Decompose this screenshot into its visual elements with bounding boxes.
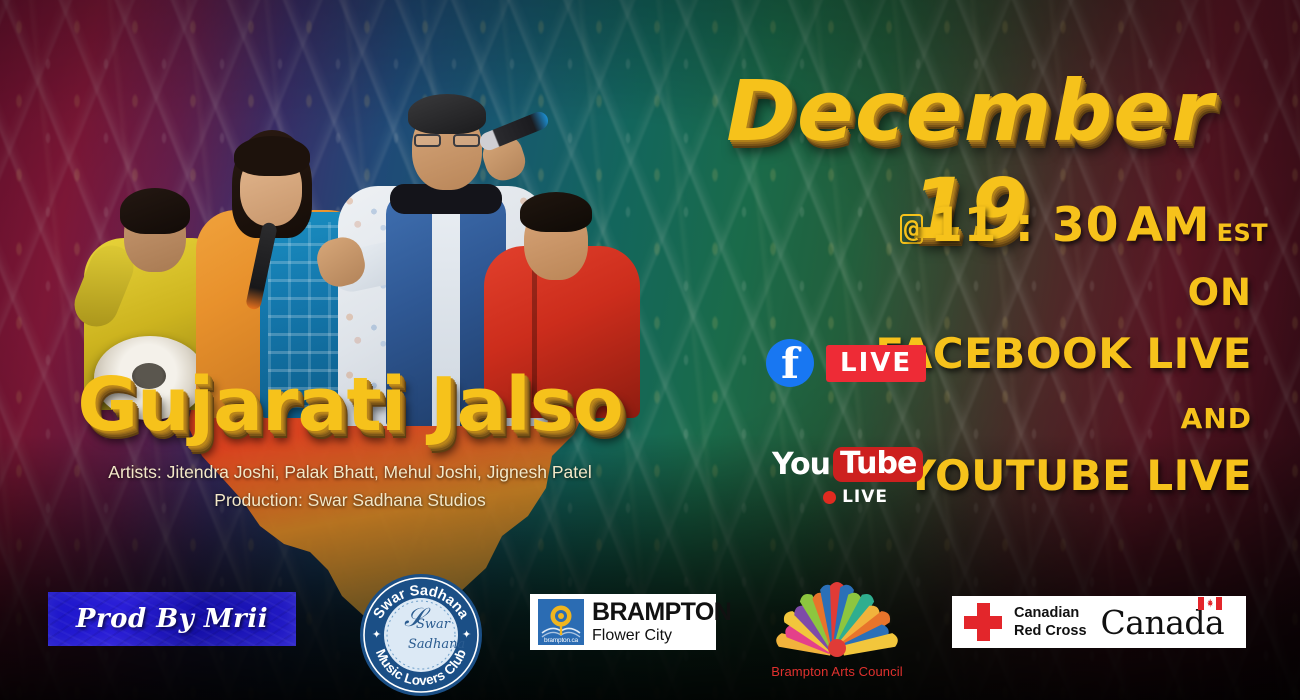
title-block: Gujarati Jalso Artists: Jitendra Joshi, …	[60, 368, 640, 514]
sponsor-canadian-red-cross[interactable]: Canadian Red Cross Canada	[952, 596, 1246, 648]
swar-sadhana-monogram-line2: Sadhana	[408, 637, 465, 652]
red-cross-icon	[964, 603, 1002, 641]
event-timezone: EST	[1217, 219, 1269, 247]
sponsor-prod-by-mrii[interactable]: Prod By Mrii	[48, 592, 296, 646]
brampton-flower-icon: brampton.ca	[538, 599, 584, 645]
brampton-tagline: Flower City	[592, 628, 731, 644]
production-line: Production: Swar Sadhana Studios	[60, 486, 640, 514]
lead-singer-hair	[408, 94, 486, 134]
sponsor-swar-sadhana-music-lovers-club[interactable]: Swar Sadhana Music Lovers Club ✦ ✦ 𝒮 Swa…	[358, 572, 484, 698]
event-poster: Gujarati Jalso Artists: Jitendra Joshi, …	[0, 0, 1300, 700]
youtube-tube-box: Tube	[833, 447, 923, 482]
canada-wordmark: Canada	[1101, 606, 1225, 639]
arts-council-name: Brampton Arts Council	[758, 664, 916, 679]
broadcast-and-label: AND	[832, 405, 1252, 433]
red-cross-line1: Canadian	[1014, 604, 1087, 622]
canada-flag-icon	[1198, 597, 1222, 610]
youtube-live-row: LIVE	[772, 489, 890, 506]
event-title: Gujarati Jalso	[60, 368, 640, 442]
swar-sadhana-monogram-line1: Swar	[416, 617, 451, 632]
sponsor-brampton-flower-city[interactable]: brampton.ca BRAMPTON Flower City	[530, 594, 716, 650]
brampton-name: BRAMPTON	[592, 600, 731, 625]
at-symbol-icon: @	[900, 214, 923, 244]
facebook-f-glyph: f	[766, 343, 814, 385]
red-cross-wordmark: Canadian Red Cross	[1014, 604, 1087, 640]
broadcast-on-label: ON	[832, 274, 1252, 311]
credits-block: Artists: Jitendra Joshi, Palak Bhatt, Me…	[60, 458, 640, 514]
performers-photo	[70, 58, 590, 408]
event-time-meridiem: AM	[1126, 198, 1209, 253]
facebook-live-badge[interactable]: f LIVE	[766, 339, 926, 387]
event-time: @ 11 : 30 AM EST	[900, 198, 1280, 253]
artists-line: Artists: Jitendra Joshi, Palak Bhatt, Me…	[60, 458, 640, 486]
event-time-clock: 11 : 30	[930, 198, 1119, 253]
brampton-wordmark: BRAMPTON Flower City	[592, 600, 731, 644]
youtube-live-badge[interactable]: You Tube LIVE	[772, 447, 890, 506]
youtube-tube-text: Tube	[840, 446, 916, 481]
youtube-you-text: You	[772, 450, 830, 480]
youtube-live-label: LIVE	[842, 489, 888, 506]
female-singer-fringe	[234, 136, 310, 176]
brampton-url: brampton.ca	[540, 637, 582, 644]
sponsor-brampton-arts-council[interactable]: Brampton Arts Council	[758, 578, 916, 690]
youtube-icon: You Tube	[772, 447, 890, 482]
sponsor-strip: Prod By Mrii Swar Sadhana Music Lovers C…	[0, 570, 1300, 700]
arts-council-fan-icon	[758, 578, 916, 662]
red-cross-line2: Red Cross	[1014, 622, 1087, 640]
prod-by-mrii-text: Prod By Mrii	[76, 604, 268, 634]
red-kurta-singer-hair	[520, 192, 592, 232]
facebook-icon: f	[766, 339, 814, 387]
svg-text:✦: ✦	[372, 628, 381, 641]
tabla-player-hair	[120, 188, 190, 234]
eyeglasses-icon	[414, 134, 480, 147]
live-dot-icon	[823, 491, 836, 504]
facebook-live-label: LIVE	[826, 345, 926, 382]
